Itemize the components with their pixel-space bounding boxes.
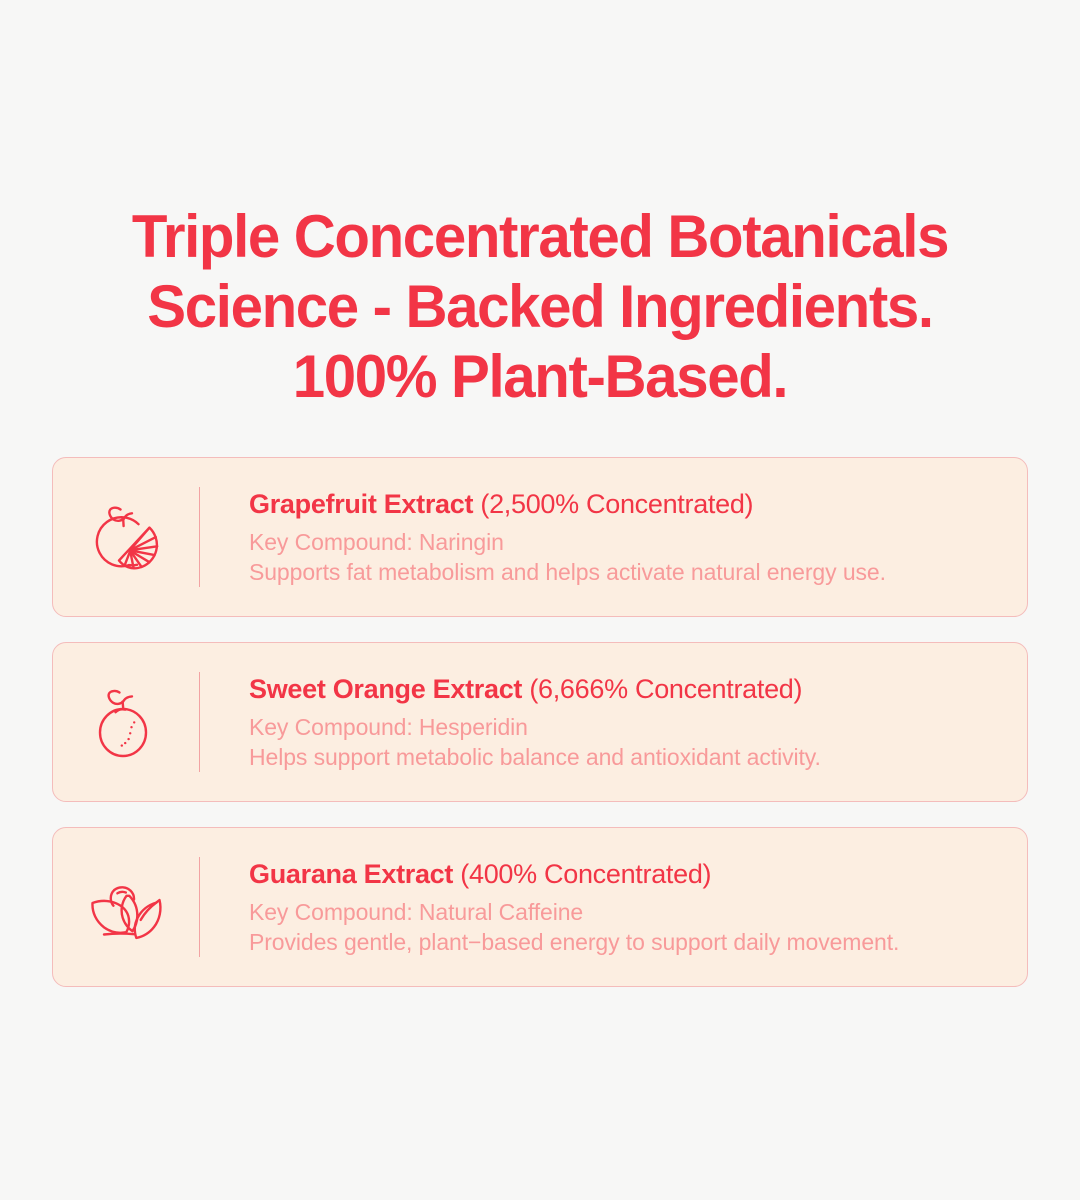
guarana-icon	[53, 828, 199, 986]
ingredient-card-body: Guarana Extract (400% Concentrated) Key …	[200, 857, 1027, 957]
ingredient-benefit: Supports fat metabolism and helps activa…	[249, 557, 1007, 587]
ingredient-benefit: Helps support metabolic balance and anti…	[249, 742, 1007, 772]
grapefruit-icon	[53, 458, 199, 616]
page-title: Triple Concentrated Botanicals Science -…	[16, 202, 1064, 412]
ingredient-key-compound: Key Compound: Hesperidin	[249, 712, 1007, 742]
ingredient-card-grapefruit[interactable]: Grapefruit Extract (2,500% Concentrated)…	[52, 457, 1028, 617]
ingredient-card-body: Sweet Orange Extract (6,666% Concentrate…	[200, 672, 1027, 772]
ingredient-card-sweet-orange[interactable]: Sweet Orange Extract (6,666% Concentrate…	[52, 642, 1028, 802]
page-title-line-1: Triple Concentrated Botanicals	[16, 202, 1064, 272]
ingredient-card-list: Grapefruit Extract (2,500% Concentrated)…	[52, 457, 1028, 987]
ingredient-key-compound: Key Compound: Natural Caffeine	[249, 897, 1007, 927]
ingredient-concentration: (400% Concentrated)	[453, 859, 711, 889]
ingredient-concentration: (6,666% Concentrated)	[522, 674, 802, 704]
ingredient-card-guarana[interactable]: Guarana Extract (400% Concentrated) Key …	[52, 827, 1028, 987]
ingredient-name: Grapefruit Extract	[249, 489, 473, 519]
ingredient-name: Sweet Orange Extract	[249, 674, 522, 704]
ingredient-card-body: Grapefruit Extract (2,500% Concentrated)…	[200, 487, 1027, 587]
ingredient-key-compound: Key Compound: Naringin	[249, 527, 1007, 557]
ingredient-name: Guarana Extract	[249, 859, 453, 889]
page-title-line-2: Science - Backed Ingredients.	[16, 272, 1064, 342]
ingredient-benefit: Provides gentle, plant−based energy to s…	[249, 927, 1007, 957]
ingredient-title: Grapefruit Extract (2,500% Concentrated)	[249, 487, 1007, 521]
orange-icon	[53, 643, 199, 801]
ingredient-title: Sweet Orange Extract (6,666% Concentrate…	[249, 672, 1007, 706]
page-title-line-3: 100% Plant-Based.	[16, 342, 1064, 412]
ingredient-concentration: (2,500% Concentrated)	[473, 489, 753, 519]
ingredients-infographic: Triple Concentrated Botanicals Science -…	[0, 0, 1080, 1200]
ingredient-title: Guarana Extract (400% Concentrated)	[249, 857, 1007, 891]
